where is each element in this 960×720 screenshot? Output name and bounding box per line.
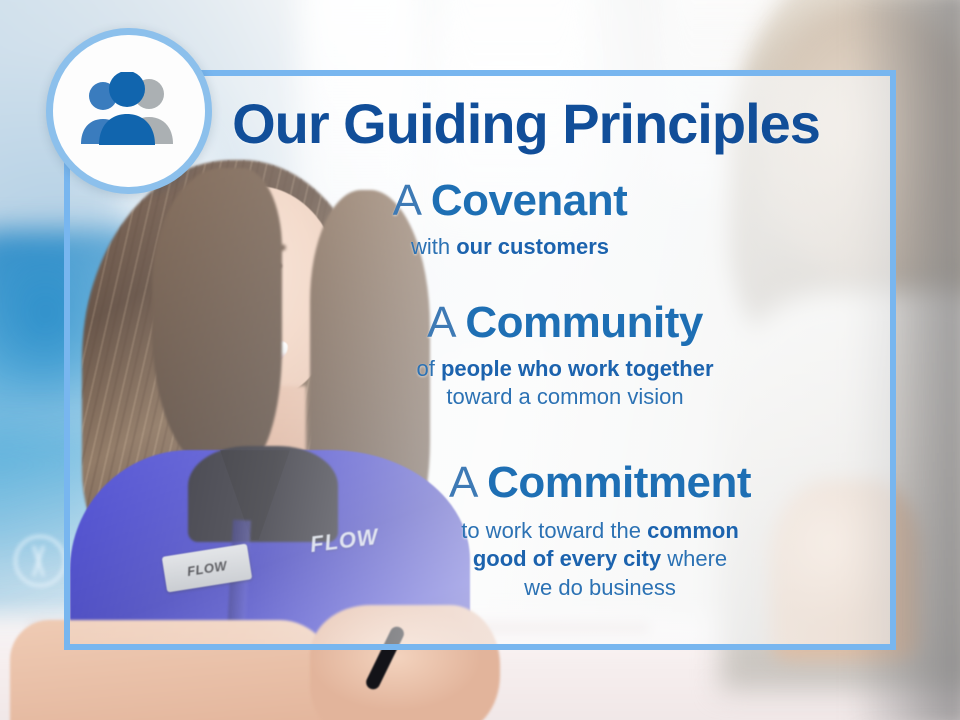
principles-content: Our Guiding Principles A Covenant with o…: [64, 70, 896, 650]
subtext-part-bold: our customers: [456, 234, 609, 259]
principle-headline: A Covenant: [124, 178, 896, 225]
subtext-part: where: [661, 546, 727, 571]
principle-subtext: to work toward the common good of every …: [304, 517, 896, 603]
principle-keyword: Commitment: [487, 458, 751, 507]
principle-subtext: of people who work together toward a com…: [234, 355, 896, 412]
subtext-part-bold: people who work together: [441, 356, 714, 381]
subtext-line: toward a common vision: [446, 384, 683, 409]
guiding-principles-graphic: FLOW FLOW: [0, 0, 960, 720]
subtext-line: good of every city where: [473, 546, 727, 571]
principle-keyword: Community: [465, 298, 703, 347]
subtext-part: to work toward the: [461, 518, 647, 543]
subtext-part-bold: good of every city: [473, 546, 661, 571]
principle-block-commitment: A Commitment to work toward the common g…: [64, 460, 896, 602]
principle-article: A: [449, 458, 475, 507]
principle-block-covenant: A Covenant with our customers: [64, 178, 896, 261]
subtext-line: we do business: [524, 575, 676, 600]
subtext-line: to work toward the common: [461, 518, 739, 543]
principle-block-community: A Community of people who work together …: [64, 300, 896, 412]
principle-subtext: with our customers: [124, 233, 896, 262]
principle-headline: A Commitment: [304, 460, 896, 507]
subtext-line: of people who work together: [416, 356, 713, 381]
principle-headline: A Community: [234, 300, 896, 347]
page-title: Our Guiding Principles: [64, 96, 896, 152]
principle-article: A: [393, 176, 419, 225]
principle-keyword: Covenant: [431, 176, 627, 225]
principle-article: A: [427, 298, 453, 347]
subtext-part-bold: common: [647, 518, 739, 543]
subtext-part: of: [416, 356, 440, 381]
subtext-part: with: [411, 234, 456, 259]
blurred-car-emblem: [14, 535, 66, 587]
